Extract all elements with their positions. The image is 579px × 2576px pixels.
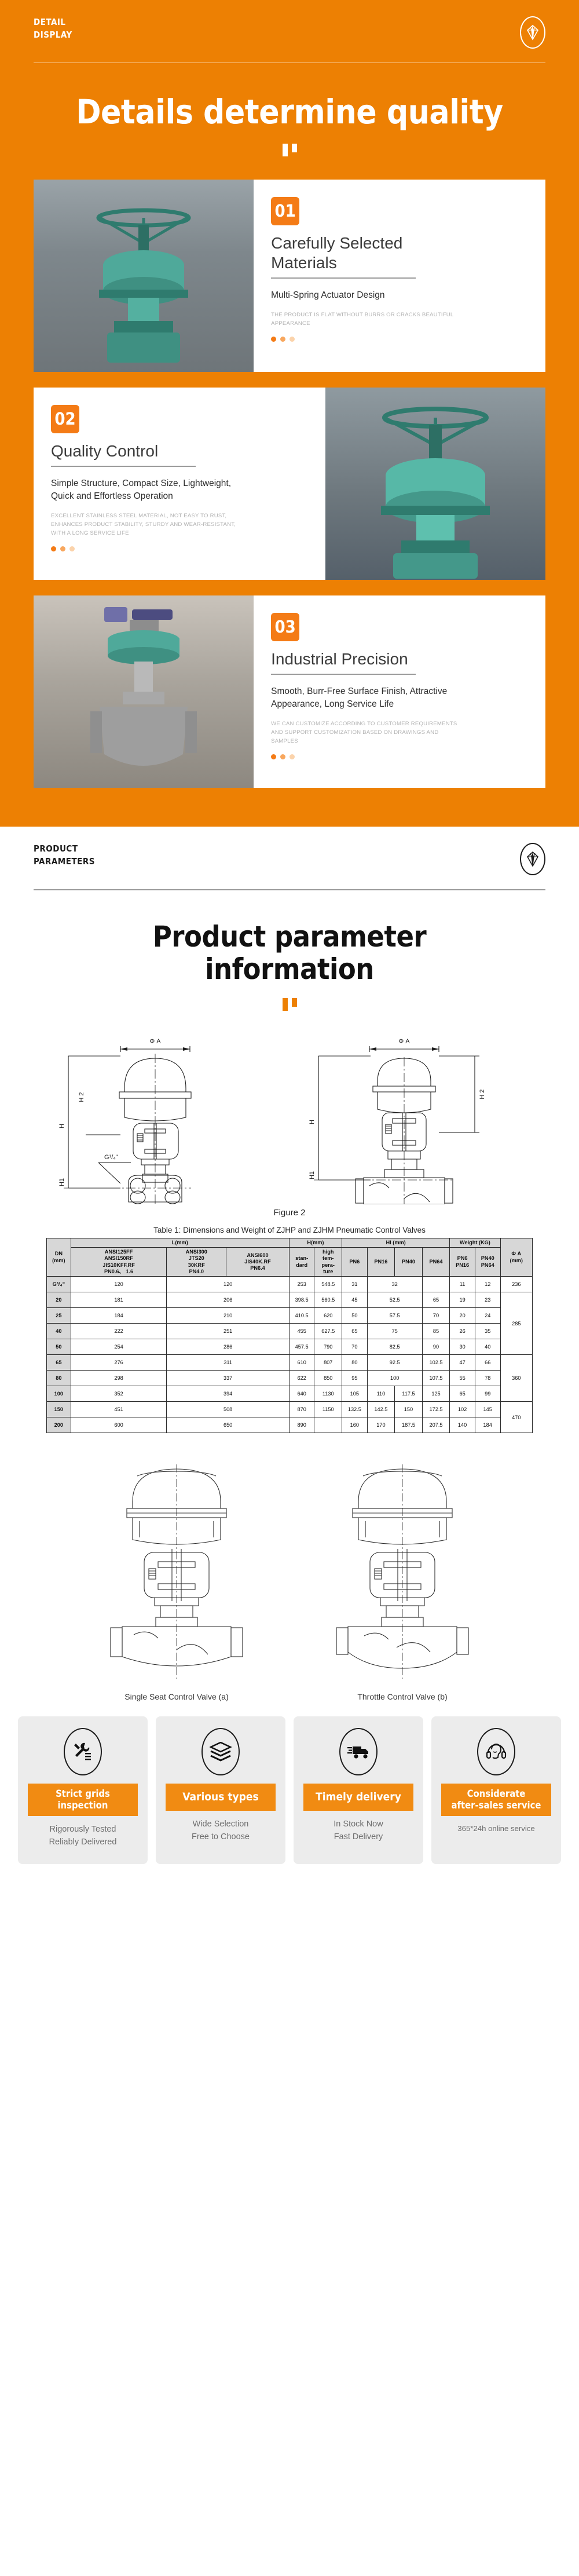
cell-h-std: 457.5: [289, 1339, 314, 1355]
cell-l1: 254: [71, 1339, 167, 1355]
service-tag-types: Various types: [166, 1784, 276, 1811]
cell-pn6: 80: [342, 1355, 368, 1371]
cell-h-std: 870: [289, 1402, 314, 1417]
feature-card-03-dots: [271, 754, 530, 759]
service-text-delivery: In Stock Now Fast Delivery: [299, 1818, 417, 1844]
feature-card-02-photo: [325, 388, 545, 580]
service-tag-delivery: Timely delivery: [303, 1784, 413, 1811]
specifications-table: DN(mm) L(mm) H(mm) HI (mm) Weight (KG) Φ…: [46, 1238, 533, 1433]
feature-card-01-number: 01: [271, 197, 299, 225]
cell-w1: 140: [450, 1417, 475, 1433]
cell-pn64: 207.5: [422, 1417, 450, 1433]
th-weight-pn6-pn16: PN6PN16: [450, 1248, 475, 1277]
feature-card-03-subtitle: Smooth, Burr-Free Surface Finish, Attrac…: [271, 685, 475, 711]
cell-pn16: 75: [367, 1324, 422, 1339]
cell-l1: 181: [71, 1292, 167, 1308]
feature-card-02-subtitle: Simple Structure, Compact Size, Lightwei…: [51, 477, 255, 503]
feature-card-02-title: Quality Control: [51, 441, 248, 461]
th-hi-pn64: PN64: [422, 1248, 450, 1277]
service-text-inspection: Rigorously Tested Reliably Delivered: [24, 1823, 142, 1849]
drawing-throttle-cell: Throttle Control Valve (b): [307, 1453, 498, 1701]
cell-pn6: 132.5: [342, 1402, 368, 1417]
cell-h-high: [314, 1417, 342, 1433]
feature-card-01-description: THE PRODUCT IS FLAT WITHOUT BURRS OR CRA…: [271, 311, 462, 328]
table-body: G³/₄" 120 120 253 548.5 31 32 11 12 236 …: [47, 1277, 533, 1433]
th-h-high-temperature: high tem- pera- ture: [314, 1248, 342, 1277]
cell-l1: 184: [71, 1308, 167, 1324]
th-weight-pn40-pn64: PN40PN64: [475, 1248, 500, 1277]
cell-pn16: 100: [367, 1371, 422, 1386]
feature-card-01-dots: [271, 337, 530, 342]
feature-card-01-title: Carefully Selected Materials: [271, 233, 468, 273]
cell-l2: 508: [167, 1402, 289, 1417]
cell-w2: 145: [475, 1402, 500, 1417]
svg-text:H1: H1: [309, 1171, 316, 1179]
cell-dn: 50: [47, 1339, 71, 1355]
table-row: 80 298 337 622 850 95 100 107.5 55 78: [47, 1371, 533, 1386]
cell-h-std: 455: [289, 1324, 314, 1339]
cell-pn16: 110: [367, 1386, 395, 1402]
cell-pn64: 65: [422, 1292, 450, 1308]
cell-w1: 19: [450, 1292, 475, 1308]
deco-mark: [292, 144, 297, 152]
table-row: 50 254 286 457.5 790 70 82.5 90 30 40: [47, 1339, 533, 1355]
table-sub-header-row: ANSI125FF ANSI150RF JIS10KFF.RF PN0.6、 1…: [47, 1248, 533, 1277]
cell-w2: 24: [475, 1308, 500, 1324]
cell-l1: 276: [71, 1355, 167, 1371]
cell-l2: 650: [167, 1417, 289, 1433]
throttle-control-valve-drawing: [310, 1453, 495, 1685]
cell-l2: 286: [167, 1339, 289, 1355]
cell-pn40: 187.5: [395, 1417, 423, 1433]
service-tag-inspection: Strict grids inspection: [28, 1784, 138, 1816]
cell-pn64: 90: [422, 1339, 450, 1355]
cell-pn6: 45: [342, 1292, 368, 1308]
cell-w1: 30: [450, 1339, 475, 1355]
table-row: 25 184 210 410.5 620 50 57.5 70 20 24: [47, 1308, 533, 1324]
cell-pn16: 52.5: [367, 1292, 422, 1308]
feature-card-01-photo: [34, 180, 254, 372]
cell-dn: 65: [47, 1355, 71, 1371]
param-headline-line1: Product parameter: [0, 920, 579, 953]
cell-pn16: 32: [367, 1277, 422, 1292]
table-row: 40 222 251 455 627.5 65 75 85 26 35: [47, 1324, 533, 1339]
service-card-aftersales[interactable]: Considerate after-sales service 365*24h …: [431, 1716, 561, 1864]
cell-pn64: 102.5: [422, 1355, 450, 1371]
cell-l1: 451: [71, 1402, 167, 1417]
drawing-single-seat-label: Single Seat Control Valve (a): [81, 1692, 272, 1701]
svg-text:Φ A: Φ A: [149, 1038, 161, 1045]
cell-l2: 120: [167, 1277, 289, 1292]
cell-pn6: 70: [342, 1339, 368, 1355]
detail-eyebrow-line1: DETAIL: [34, 16, 72, 29]
service-badges: Strict grids inspection Rigorously Teste…: [0, 1701, 579, 1887]
deco-mark: [292, 998, 297, 1007]
cell-h-high: 620: [314, 1308, 342, 1324]
figure-2-wrap: Φ A H H 2 H1: [0, 1031, 579, 1234]
feature-card-01-underline: [271, 277, 416, 279]
feature-card-02[interactable]: 02 Quality Control Simple Structure, Com…: [34, 388, 545, 580]
cell-dn: 150: [47, 1402, 71, 1417]
table-head: DN(mm) L(mm) H(mm) HI (mm) Weight (KG) Φ…: [47, 1238, 533, 1276]
table-row: 200 600 650 890 160 170 187.5 207.5 140 …: [47, 1417, 533, 1433]
cell-l2: 210: [167, 1308, 289, 1324]
cell-w1: 20: [450, 1308, 475, 1324]
single-seat-control-valve-drawing: [84, 1453, 269, 1685]
cell-pn64: 85: [422, 1324, 450, 1339]
delivery-truck-icon: [339, 1728, 378, 1775]
cell-h-high: 850: [314, 1371, 342, 1386]
cell-dn: 100: [47, 1386, 71, 1402]
svg-text:Φ A: Φ A: [398, 1038, 410, 1045]
cell-pn6: 50: [342, 1308, 368, 1324]
table-row: 20 181 206 398.5 560.5 45 52.5 65 19 23 …: [47, 1292, 533, 1308]
cell-pn6: 31: [342, 1277, 368, 1292]
deco-mark: [283, 998, 288, 1011]
th-group-hi: HI (mm): [342, 1238, 450, 1247]
th-group-l: L(mm): [71, 1238, 289, 1247]
cell-w2: 184: [475, 1417, 500, 1433]
cell-diameter: 285: [500, 1292, 532, 1355]
cell-h-std: 890: [289, 1417, 314, 1433]
th-hi-pn6: PN6: [342, 1248, 368, 1277]
detail-headline: Details determine quality: [0, 93, 579, 131]
svg-text:H: H: [58, 1124, 65, 1128]
cell-w2: 78: [475, 1371, 500, 1386]
cell-w2: 66: [475, 1355, 500, 1371]
cell-h-high: 790: [314, 1339, 342, 1355]
figure-caption: Figure 2: [34, 1208, 545, 1218]
param-eyebrow-line2: PARAMETERS: [34, 856, 95, 868]
feature-card-03-number: 03: [271, 613, 299, 641]
svg-text:G¹/₄": G¹/₄": [104, 1154, 118, 1161]
svg-text:H 2: H 2: [78, 1092, 85, 1102]
cell-pn16: 82.5: [367, 1339, 422, 1355]
diamond-icon: [520, 16, 545, 49]
cell-l2: 206: [167, 1292, 289, 1308]
table-row: 65 276 311 610 807 80 92.5 102.5 47 66 3…: [47, 1355, 533, 1371]
cell-l1: 352: [71, 1386, 167, 1402]
layers-icon: [201, 1728, 240, 1775]
param-header-divider: [34, 889, 545, 890]
cell-dn: 20: [47, 1292, 71, 1308]
th-l-ansi125: ANSI125FF ANSI150RF JIS10KFF.RF PN0.6、 1…: [71, 1248, 167, 1277]
cell-diameter: 470: [500, 1402, 532, 1433]
feature-card-03-underline: [271, 674, 416, 675]
cell-h-std: 622: [289, 1371, 314, 1386]
service-card-inspection[interactable]: Strict grids inspection Rigorously Teste…: [18, 1716, 148, 1864]
cell-l2: 337: [167, 1371, 289, 1386]
cell-h-std: 253: [289, 1277, 314, 1292]
cell-pn16: 57.5: [367, 1308, 422, 1324]
cell-h-high: 548.5: [314, 1277, 342, 1292]
th-l-ansi300: ANSI300 JTS20 30KRF PN4.0: [167, 1248, 226, 1277]
feature-card-01-subtitle: Multi-Spring Actuator Design: [271, 289, 475, 302]
service-card-types[interactable]: Various types Wide Selection Free to Cho…: [156, 1716, 285, 1864]
cell-w1: 26: [450, 1324, 475, 1339]
cell-pn16: 92.5: [367, 1355, 422, 1371]
detail-eyebrow-line2: DISPLAY: [34, 29, 72, 42]
svg-text:H1: H1: [58, 1178, 65, 1186]
headset-support-icon: [477, 1728, 515, 1775]
service-text-types: Wide Selection Free to Choose: [162, 1818, 280, 1844]
cell-l1: 120: [71, 1277, 167, 1292]
deco-mark: [283, 144, 288, 156]
table-caption: Table 1: Dimensions and Weight of ZJHP a…: [34, 1226, 545, 1234]
cell-h-std: 640: [289, 1386, 314, 1402]
th-diameter-a: Φ A(mm): [500, 1238, 532, 1276]
cell-h-high: 627.5: [314, 1324, 342, 1339]
cell-diameter: 236: [500, 1277, 532, 1292]
cell-pn6: 95: [342, 1371, 368, 1386]
cell-h-std: 398.5: [289, 1292, 314, 1308]
th-group-h: H(mm): [289, 1238, 342, 1247]
th-hi-pn40: PN40: [395, 1248, 423, 1277]
cell-pn6: 105: [342, 1386, 368, 1402]
cell-pn16: 170: [367, 1417, 395, 1433]
cell-pn16: 142.5: [367, 1402, 395, 1417]
product-parameters-section: PRODUCT PARAMETERS Product parameter inf…: [0, 827, 579, 1893]
cell-pn6: 65: [342, 1324, 368, 1339]
cell-pn40: 150: [395, 1402, 423, 1417]
dimension-diagram: Φ A H H 2 H1: [34, 1031, 545, 1204]
cell-l2: 251: [167, 1324, 289, 1339]
table-row: 100 352 394 640 1130 105 110 117.5 125 6…: [47, 1386, 533, 1402]
th-group-weight: Weight (KG): [450, 1238, 500, 1247]
feature-card-03-body: 03 Industrial Precision Smooth, Burr-Fre…: [254, 595, 545, 788]
cell-w1: 55: [450, 1371, 475, 1386]
cell-dn: 40: [47, 1324, 71, 1339]
cell-l1: 222: [71, 1324, 167, 1339]
feature-card-01[interactable]: 01 Carefully Selected Materials Multi-Sp…: [34, 180, 545, 372]
decoration-marks: [0, 144, 579, 156]
feature-card-02-dots: [51, 546, 310, 551]
cell-w2: 99: [475, 1386, 500, 1402]
detail-section-header: DETAIL DISPLAY: [0, 0, 579, 49]
feature-card-02-description: EXCELLENT STAINLESS STEEL MATERIAL, NOT …: [51, 512, 242, 538]
cell-l1: 298: [71, 1371, 167, 1386]
service-tag-aftersales: Considerate after-sales service: [441, 1784, 551, 1816]
service-text-aftersales: 365*24h online service: [437, 1823, 555, 1835]
table-row: G³/₄" 120 120 253 548.5 31 32 11 12 236: [47, 1277, 533, 1292]
cell-pn64: 107.5: [422, 1371, 450, 1386]
th-h-standard: stan-dard: [289, 1248, 314, 1277]
cell-pn6: 160: [342, 1417, 368, 1433]
feature-card-01-body: 01 Carefully Selected Materials Multi-Sp…: [254, 180, 545, 372]
cell-w2: 12: [475, 1277, 500, 1292]
detail-header-divider: [34, 63, 545, 63]
feature-card-03-title: Industrial Precision: [271, 649, 468, 669]
cell-l2: 394: [167, 1386, 289, 1402]
cell-w2: 40: [475, 1339, 500, 1355]
cell-dn: 80: [47, 1371, 71, 1386]
detail-eyebrow: DETAIL DISPLAY: [34, 16, 72, 42]
cell-dn: 200: [47, 1417, 71, 1433]
param-eyebrow: PRODUCT PARAMETERS: [34, 843, 95, 868]
drawing-throttle-label: Throttle Control Valve (b): [307, 1692, 498, 1701]
feature-card-03-photo: [34, 595, 254, 788]
cell-w2: 23: [475, 1292, 500, 1308]
feature-cards: 01 Carefully Selected Materials Multi-Sp…: [0, 180, 579, 788]
cell-w1: 65: [450, 1386, 475, 1402]
param-eyebrow-line1: PRODUCT: [34, 843, 95, 856]
cell-h-high: 1150: [314, 1402, 342, 1417]
cell-dn: 25: [47, 1308, 71, 1324]
svg-text:H 2: H 2: [479, 1089, 486, 1099]
cell-l2: 311: [167, 1355, 289, 1371]
detail-display-section: DETAIL DISPLAY Details determine quality: [0, 0, 579, 827]
valve-drawings: Single Seat Control Valve (a): [0, 1453, 579, 1701]
wrench-inspection-icon: [64, 1728, 102, 1775]
feature-card-02-underline: [51, 466, 196, 467]
cell-diameter: 360: [500, 1355, 532, 1402]
cell-h-high: 807: [314, 1355, 342, 1371]
feature-card-03[interactable]: 03 Industrial Precision Smooth, Burr-Fre…: [34, 595, 545, 788]
table-row: 150 451 508 870 1150 132.5 142.5 150 172…: [47, 1402, 533, 1417]
cell-h-high: 560.5: [314, 1292, 342, 1308]
cell-h-std: 410.5: [289, 1308, 314, 1324]
diamond-icon: [520, 843, 545, 875]
cell-w1: 102: [450, 1402, 475, 1417]
cell-pn64: 70: [422, 1308, 450, 1324]
cell-l1: 600: [71, 1417, 167, 1433]
th-dn: DN(mm): [47, 1238, 71, 1276]
cell-h-high: 1130: [314, 1386, 342, 1402]
decoration-marks: [0, 998, 579, 1011]
feature-card-03-description: WE CAN CUSTOMIZE ACCORDING TO CUSTOMER R…: [271, 720, 462, 746]
cell-w1: 11: [450, 1277, 475, 1292]
param-headline-line2: information: [0, 953, 579, 985]
cell-pn40: 117.5: [395, 1386, 423, 1402]
svg-text:H: H: [309, 1120, 316, 1124]
param-headline: Product parameter information: [0, 920, 579, 985]
cell-dn: G³/₄": [47, 1277, 71, 1292]
cell-pn64: 125: [422, 1386, 450, 1402]
drawing-single-seat-cell: Single Seat Control Valve (a): [81, 1453, 272, 1701]
feature-card-02-body: 02 Quality Control Simple Structure, Com…: [34, 388, 325, 580]
cell-h-std: 610: [289, 1355, 314, 1371]
feature-card-02-number: 02: [51, 405, 79, 433]
cell-w2: 35: [475, 1324, 500, 1339]
table-group-header-row: DN(mm) L(mm) H(mm) HI (mm) Weight (KG) Φ…: [47, 1238, 533, 1247]
th-hi-pn16: PN16: [367, 1248, 395, 1277]
cell-w1: 47: [450, 1355, 475, 1371]
param-section-header: PRODUCT PARAMETERS: [0, 827, 579, 875]
cell-pn64: [422, 1277, 450, 1292]
cell-pn64: 172.5: [422, 1402, 450, 1417]
service-card-delivery[interactable]: Timely delivery In Stock Now Fast Delive…: [294, 1716, 423, 1864]
th-l-ansi600: ANSI600 JIS40K.RF PN6.4: [226, 1248, 289, 1277]
